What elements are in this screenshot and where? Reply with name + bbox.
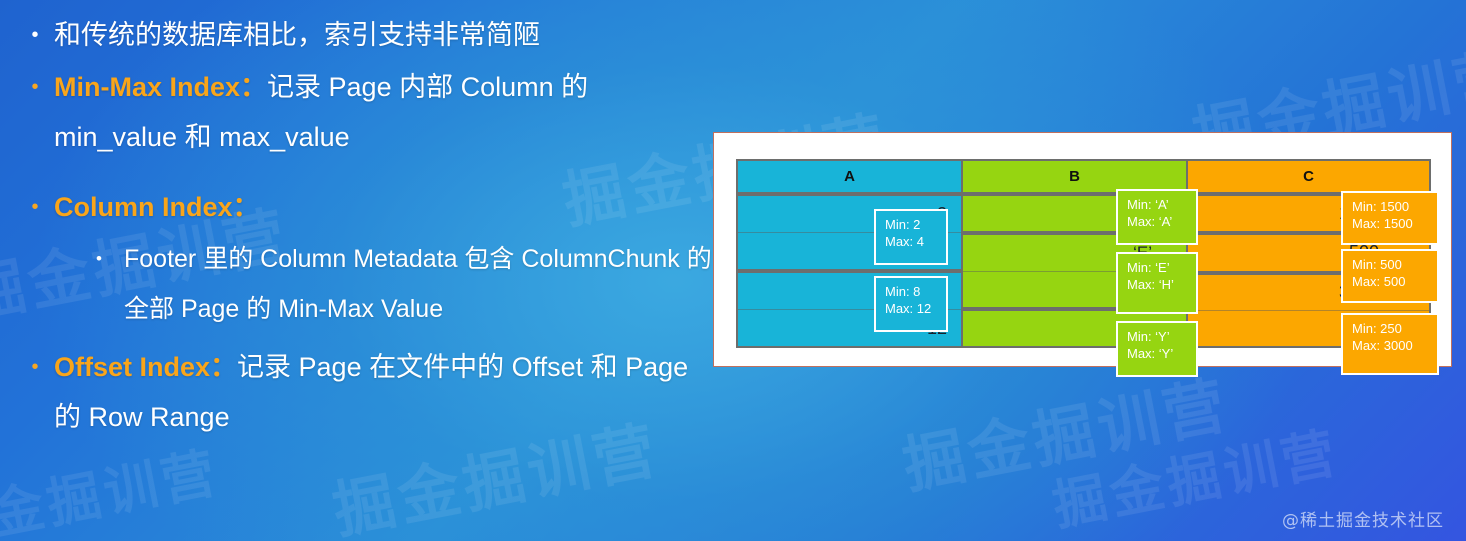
credit-watermark: @稀土掘金技术社区 — [1282, 506, 1444, 531]
minmax-callout: Min: ‘A’ Max: ‘A’ — [1116, 189, 1198, 245]
bullet-lead-label: Column Index： — [54, 192, 260, 222]
bullet-marker-icon: • — [18, 62, 52, 112]
callout-min-label: Min: ‘A’ — [1127, 196, 1188, 213]
callout-max-label: Max: 4 — [885, 233, 938, 250]
table-column-c: C 1500 500 3000 250 Min: 1500 Max: 1500 … — [1186, 159, 1431, 348]
bullet-marker-icon: • — [76, 234, 122, 284]
callout-min-label: Min: 1500 — [1352, 198, 1429, 215]
table-column-a: A 2 4 8 12 Min: 2 Max: 4 Min: 8 Max: 12 — [736, 159, 963, 348]
callout-max-label: Max: ‘A’ — [1127, 213, 1188, 230]
bullet-text: 和传统的数据库相比，索引支持非常简陋 — [52, 10, 712, 60]
minmax-callout: Min: 8 Max: 12 — [874, 276, 948, 332]
callout-min-label: Min: 2 — [885, 216, 938, 233]
bullet-lead-label: Min-Max Index： — [54, 72, 267, 102]
watermark-text: 掘金掘训营 — [894, 354, 1235, 505]
parquet-column-table: A 2 4 8 12 Min: 2 Max: 4 Min: 8 Max: 12 … — [736, 159, 1431, 348]
minmax-callout: Min: ‘Y’ Max: ‘Y’ — [1116, 321, 1198, 377]
bullet-text: Footer 里的 Column Metadata 包含 ColumnChunk… — [122, 234, 712, 334]
callout-min-label: Min: ‘E’ — [1127, 259, 1188, 276]
callout-min-label: Min: 500 — [1352, 256, 1429, 273]
callout-min-label: Min: 250 — [1352, 320, 1429, 337]
callout-max-label: Max: ‘H’ — [1127, 276, 1188, 293]
bullet-item-2: • Column Index： — [18, 182, 712, 232]
callout-max-label: Max: 3000 — [1352, 337, 1429, 354]
callout-max-label: Max: ‘Y’ — [1127, 345, 1188, 362]
callout-max-label: Max: 12 — [885, 300, 938, 317]
callout-max-label: Max: 1500 — [1352, 215, 1429, 232]
minmax-callout: Min: 250 Max: 3000 — [1341, 313, 1439, 375]
bullet-item-0: • 和传统的数据库相比，索引支持非常简陋 — [18, 10, 712, 60]
bullet-marker-icon: • — [18, 342, 52, 392]
bullet-text: Min-Max Index：记录 Page 内部 Column 的 min_va… — [52, 62, 712, 162]
bullet-text: Offset Index：记录 Page 在文件中的 Offset 和 Page… — [52, 342, 712, 442]
minmax-callout: Min: 2 Max: 4 — [874, 209, 948, 265]
bullet-marker-icon: • — [18, 10, 52, 60]
callout-max-label: Max: 500 — [1352, 273, 1429, 290]
table-column-b: B ‘A’ ‘E’ ‘H’ ‘Y’ Min: ‘A’ Max: ‘A’ Min:… — [961, 159, 1188, 348]
bullet-item-1: • Min-Max Index：记录 Page 内部 Column 的 min_… — [18, 62, 712, 162]
minmax-callout: Min: 500 Max: 500 — [1341, 249, 1439, 303]
column-header-a: A — [738, 161, 961, 196]
slide-body: • 和传统的数据库相比，索引支持非常简陋 • Min-Max Index：记录 … — [0, 0, 712, 444]
spacer — [18, 164, 712, 182]
bullet-item-3-sub: • Footer 里的 Column Metadata 包含 ColumnChu… — [76, 234, 712, 334]
bullet-item-4: • Offset Index：记录 Page 在文件中的 Offset 和 Pa… — [18, 342, 712, 442]
callout-min-label: Min: 8 — [885, 283, 938, 300]
figure-panel: A 2 4 8 12 Min: 2 Max: 4 Min: 8 Max: 12 … — [713, 132, 1452, 367]
bullet-text: Column Index： — [52, 182, 712, 232]
minmax-callout: Min: 1500 Max: 1500 — [1341, 191, 1439, 245]
minmax-callout: Min: ‘E’ Max: ‘H’ — [1116, 252, 1198, 314]
watermark-text: 掘金掘训营 — [0, 428, 225, 541]
bullet-lead-label: Offset Index： — [54, 352, 237, 382]
bullet-marker-icon: • — [18, 182, 52, 232]
callout-min-label: Min: ‘Y’ — [1127, 328, 1188, 345]
